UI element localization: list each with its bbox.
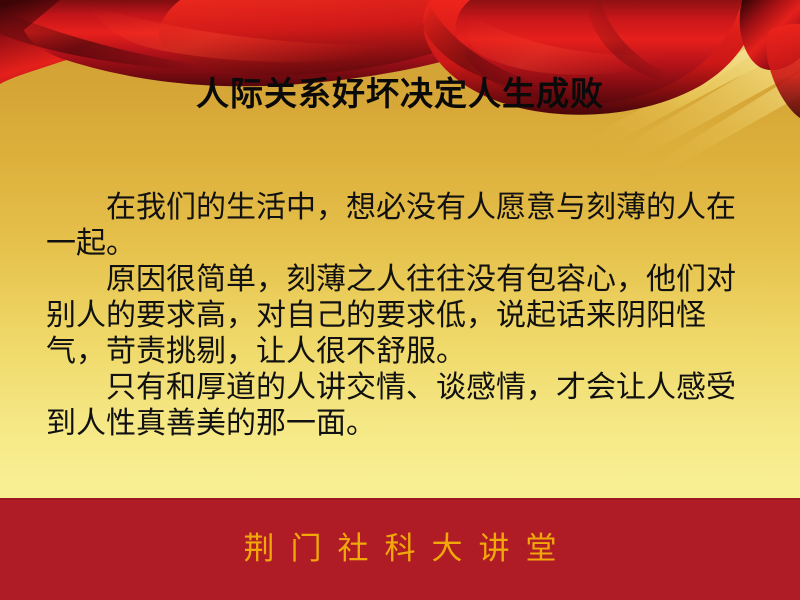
footer-banner-label: 荆门社科大讲堂 <box>0 528 800 570</box>
presentation-slide: 人际关系好坏决定人生成败 在我们的生活中，想必没有人愿意与刻薄的人在一起。 原因… <box>0 0 800 600</box>
body-paragraph-2: 原因很简单，刻薄之人往往没有包容心，他们对别人的要求高，对自己的要求低，说起话来… <box>46 262 762 370</box>
slide-title: 人际关系好坏决定人生成败 <box>0 76 800 112</box>
body-paragraph-1: 在我们的生活中，想必没有人愿意与刻薄的人在一起。 <box>46 190 762 262</box>
slide-body-text: 在我们的生活中，想必没有人愿意与刻薄的人在一起。 原因很简单，刻薄之人往往没有包… <box>46 190 762 442</box>
body-paragraph-3: 只有和厚道的人讲交情、谈感情，才会让人感受到人性真善美的那一面。 <box>46 370 762 442</box>
